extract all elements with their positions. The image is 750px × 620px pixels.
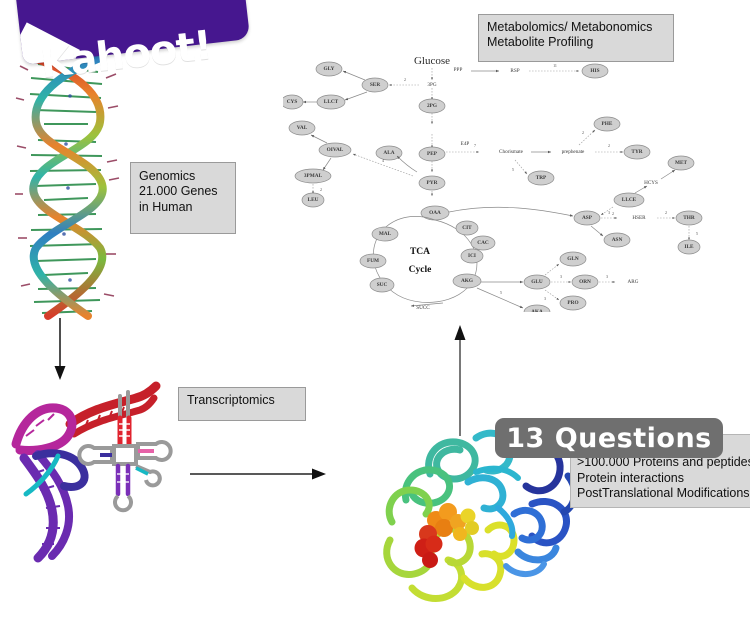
genomics-box: Genomics 21.000 Genes in Human: [130, 162, 236, 234]
svg-text:HSER: HSER: [632, 215, 646, 221]
pathway-entry-label: Glucose: [414, 55, 450, 67]
svg-text:2: 2: [608, 143, 610, 148]
svg-text:prephenate: prephenate: [562, 149, 585, 155]
svg-text:2: 2: [665, 210, 667, 215]
svg-text:GLY: GLY: [324, 66, 335, 72]
svg-text:PYR: PYR: [427, 180, 438, 186]
svg-text:GLU: GLU: [531, 279, 543, 285]
svg-text:ILE: ILE: [684, 244, 694, 250]
svg-text:HIS: HIS: [590, 68, 599, 74]
svg-text:ASP: ASP: [582, 215, 593, 221]
svg-text:GLN: GLN: [567, 256, 579, 262]
svg-text:ARG: ARG: [628, 279, 639, 285]
svg-text:TRP: TRP: [536, 175, 547, 181]
svg-text:HCYS: HCYS: [644, 180, 658, 186]
svg-text:7: 7: [474, 143, 476, 148]
svg-text:2: 2: [404, 77, 406, 82]
svg-text:SER: SER: [370, 82, 380, 88]
svg-text:RSP: RSP: [510, 68, 519, 74]
svg-text:2: 2: [582, 130, 584, 135]
dna-double-helix: [8, 48, 128, 328]
protein-to-metabolites-arrow: [448, 322, 472, 436]
svg-text:5: 5: [500, 290, 502, 295]
svg-text:Cycle: Cycle: [409, 265, 432, 275]
svg-text:3: 3: [544, 296, 546, 301]
pathway-node-group: 2PG PEP PYR OAA: [419, 99, 449, 220]
svg-text:2: 2: [612, 211, 614, 216]
svg-text:VAL: VAL: [297, 125, 308, 131]
svg-text:PEP: PEP: [427, 151, 438, 157]
svg-text:3PG: 3PG: [427, 82, 436, 88]
slide-canvas: Kahoot! Genomics 21.000 Genes in Human: [0, 0, 750, 620]
svg-text:PRO: PRO: [567, 300, 578, 306]
svg-text:AKG: AKG: [461, 278, 473, 284]
svg-text:4: 4: [382, 158, 384, 163]
svg-text:2: 2: [320, 187, 322, 192]
svg-text:CYS: CYS: [287, 99, 298, 105]
trna-structure: [8, 378, 180, 578]
svg-text:FUM: FUM: [367, 258, 379, 264]
svg-text:Chorismate: Chorismate: [499, 149, 524, 155]
svg-text:OAA: OAA: [429, 210, 441, 216]
svg-text:3: 3: [560, 274, 562, 279]
svg-text:MAL: MAL: [379, 231, 392, 237]
svg-text:LLCT: LLCT: [324, 99, 339, 105]
quiz-question-count-label: 13 Questions: [506, 423, 712, 454]
svg-text:ORN: ORN: [579, 279, 591, 285]
svg-text:CAC: CAC: [477, 240, 489, 246]
svg-text:E4P: E4P: [461, 141, 470, 147]
transcriptomics-box: Transcriptomics: [178, 387, 306, 421]
svg-text:ICI: ICI: [468, 253, 476, 259]
svg-text:3: 3: [606, 274, 608, 279]
svg-text:LLCE: LLCE: [622, 197, 637, 203]
svg-text:11: 11: [553, 63, 557, 68]
svg-text:ALA: ALA: [383, 150, 394, 156]
svg-text:2PG: 2PG: [427, 103, 437, 109]
svg-text:PHE: PHE: [602, 121, 613, 127]
dna-to-rna-arrow: [48, 318, 72, 382]
svg-text:AKA: AKA: [531, 309, 543, 312]
svg-text:SUCC: SUCC: [416, 305, 430, 311]
svg-text:5: 5: [512, 167, 514, 172]
svg-text:3PMAL: 3PMAL: [304, 173, 323, 179]
pathway-cycle-title: TCA: [410, 247, 430, 257]
svg-text:THR: THR: [683, 215, 695, 221]
quiz-question-count-badge[interactable]: 13 Questions: [495, 418, 723, 458]
svg-text:MET: MET: [675, 160, 688, 166]
svg-text:3: 3: [608, 210, 610, 215]
svg-text:OIVAL: OIVAL: [327, 147, 344, 153]
svg-text:5: 5: [696, 231, 698, 236]
svg-text:LEU: LEU: [308, 197, 319, 203]
svg-text:PPP: PPP: [454, 67, 463, 73]
svg-text:ASN: ASN: [612, 237, 623, 243]
svg-text:CIT: CIT: [462, 225, 472, 231]
svg-text:SUC: SUC: [377, 282, 388, 288]
rna-to-protein-arrow: [190, 462, 330, 486]
metabolic-pathway-map: Glucose 3PG 2PG PEP PYR OAA PPP RSP 11 H…: [283, 52, 745, 312]
svg-text:TYR: TYR: [631, 149, 642, 155]
